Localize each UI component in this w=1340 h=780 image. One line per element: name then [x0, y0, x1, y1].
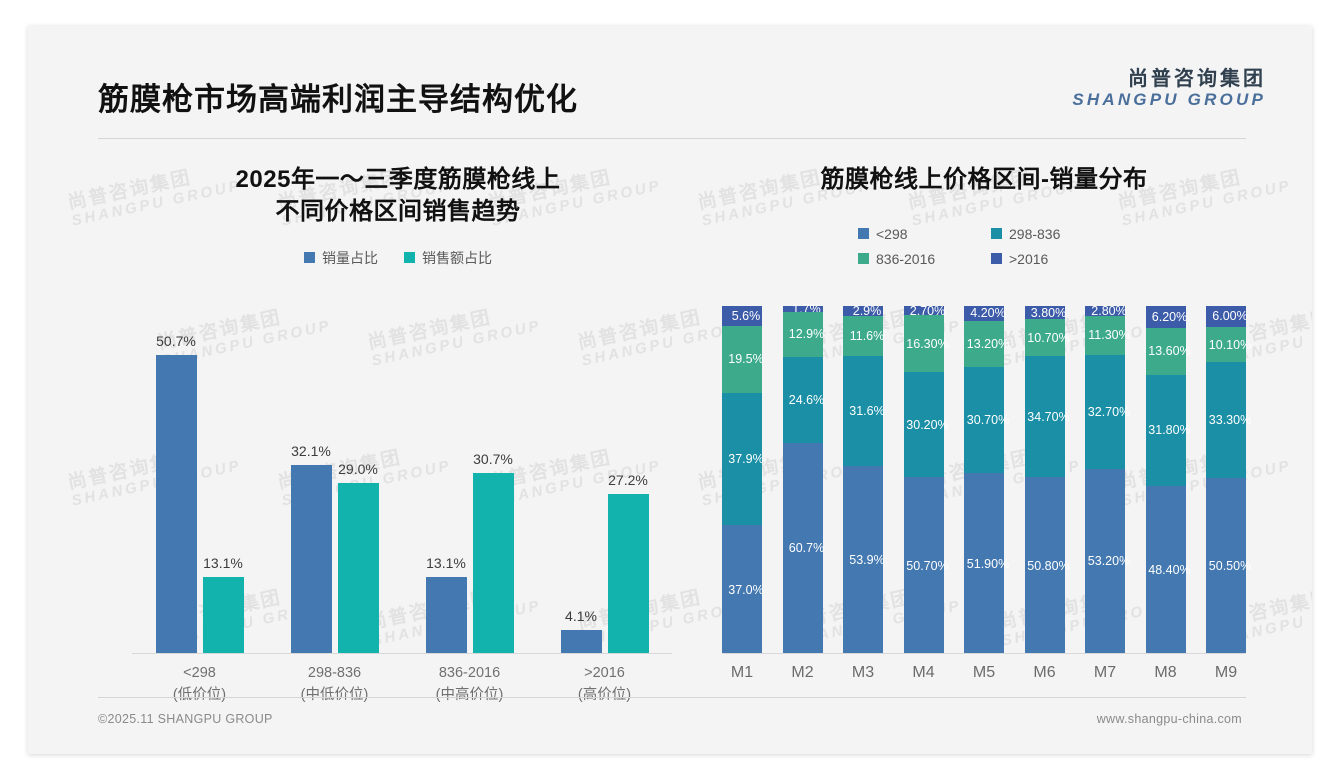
- bar-value-label: 30.7%: [473, 451, 513, 467]
- legend-item-label: 836-2016: [876, 251, 935, 267]
- month-label: M4: [904, 664, 944, 682]
- stacked-bar-column[interactable]: 4.20%13.20%30.70%51.90%: [964, 306, 1004, 654]
- stacked-bar-column[interactable]: 1.7%12.9%24.6%60.7%: [783, 306, 823, 654]
- bar[interactable]: [156, 355, 197, 654]
- bar-column[interactable]: 13.1%: [203, 324, 244, 654]
- legend-item-4[interactable]: >2016: [991, 251, 1110, 267]
- stack-segment[interactable]: 13.60%: [1146, 328, 1186, 375]
- stacked-bar-column[interactable]: 2.80%11.30%32.70%53.20%: [1085, 306, 1125, 654]
- left-chart-axis-line: [132, 653, 672, 654]
- category-tier: (中高价位): [410, 684, 530, 706]
- stack-segment[interactable]: 10.10%: [1206, 327, 1246, 362]
- bar-column[interactable]: 27.2%: [608, 324, 649, 654]
- page-title: 筋膜枪市场高端利润主导结构优化: [98, 74, 578, 119]
- stack-segment[interactable]: 6.00%: [1206, 306, 1246, 327]
- month-label: M8: [1146, 664, 1186, 682]
- stack-segment-label: 33.30%: [1209, 413, 1251, 427]
- bar-column[interactable]: 32.1%: [291, 324, 332, 654]
- stack-segment-label: 53.20%: [1088, 554, 1130, 568]
- stack-segment-label: 32.70%: [1088, 405, 1130, 419]
- left-chart-title-line1: 2025年一～三季度筋膜枪线上: [236, 166, 561, 193]
- month-label: M5: [964, 664, 1004, 682]
- category-tier: (低价位): [140, 684, 260, 706]
- bar-column[interactable]: 4.1%: [561, 324, 602, 654]
- stack-segment-label: 31.80%: [1148, 423, 1190, 437]
- left-chart-title: 2025年一～三季度筋膜枪线上 不同价格区间销售趋势: [98, 146, 698, 228]
- bar-value-label: 50.7%: [156, 333, 196, 349]
- stacked-bar-column[interactable]: 2.9%11.6%31.6%53.9%: [843, 306, 883, 654]
- stack-segment-label: 31.6%: [849, 404, 884, 418]
- bar[interactable]: [426, 577, 467, 654]
- stack-segment-label: 10.10%: [1209, 338, 1251, 352]
- stack-segment-label: 60.7%: [789, 541, 824, 555]
- logo-english-name: SHANGPU GROUP: [1072, 90, 1266, 109]
- stack-segment[interactable]: 2.80%: [1085, 306, 1125, 316]
- footer-divider: [98, 697, 1246, 698]
- month-label: M2: [783, 664, 823, 682]
- month-label: M1: [722, 664, 762, 682]
- legend-item-2[interactable]: 销售额占比: [404, 248, 492, 268]
- stack-segment[interactable]: 30.20%: [904, 372, 944, 477]
- stack-segment-label: 10.70%: [1027, 331, 1069, 345]
- stack-segment[interactable]: 11.6%: [843, 316, 883, 356]
- stack-segment[interactable]: 50.50%: [1206, 478, 1246, 654]
- stack-segment-label: 5.6%: [732, 309, 761, 323]
- stack-segment[interactable]: 53.9%: [843, 466, 883, 654]
- legend-swatch-icon: [858, 228, 869, 239]
- stack-segment-label: 30.70%: [967, 413, 1009, 427]
- stack-segment-label: 11.30%: [1088, 328, 1129, 342]
- bar-column[interactable]: 13.1%: [426, 324, 467, 654]
- stack-segment-label: 6.20%: [1152, 310, 1187, 324]
- bar-value-label: 29.0%: [338, 461, 378, 477]
- legend-swatch-icon: [304, 252, 315, 263]
- legend-swatch-icon: [404, 252, 415, 263]
- stack-segment-label: 50.70%: [906, 559, 948, 573]
- stack-segment[interactable]: 2.9%: [843, 306, 883, 316]
- legend-item-1[interactable]: <298: [858, 226, 977, 242]
- bar-value-label: 13.1%: [426, 555, 466, 571]
- right-chart-panel: 筋膜枪线上价格区间-销量分布 <298298-836836-2016>2016 …: [704, 146, 1264, 706]
- legend-swatch-icon: [858, 253, 869, 264]
- right-chart-title: 筋膜枪线上价格区间-销量分布: [704, 146, 1264, 196]
- month-label: M3: [843, 664, 883, 682]
- stacked-bar-column[interactable]: 2.70%16.30%30.20%50.70%: [904, 306, 944, 654]
- stack-segment-label: 48.40%: [1148, 563, 1190, 577]
- legend-item-1[interactable]: 销量占比: [304, 248, 378, 268]
- left-chart-category-labels: <298(低价位)298-836(中低价位)836-2016(中高价位)>201…: [132, 662, 672, 707]
- stack-segment-label: 50.50%: [1209, 559, 1251, 573]
- stacked-bar-column[interactable]: 5.6%19.5%37.9%37.0%: [722, 306, 762, 654]
- slide-header: 筋膜枪市场高端利润主导结构优化 尚普咨询集团 SHANGPU GROUP: [28, 26, 1312, 118]
- footer-website: www.shangpu-china.com: [1097, 712, 1242, 726]
- right-chart-legend: <298298-836836-2016>2016: [858, 226, 1110, 267]
- stack-segment-label: 34.70%: [1027, 410, 1069, 424]
- stack-segment[interactable]: 3.80%: [1025, 306, 1065, 319]
- legend-item-label: <298: [876, 226, 908, 242]
- category-label: 836-2016(中高价位): [410, 662, 530, 707]
- bar-value-label: 4.1%: [565, 608, 597, 624]
- stack-segment[interactable]: 33.30%: [1206, 362, 1246, 478]
- stack-segment[interactable]: 50.70%: [904, 477, 944, 654]
- bar-column[interactable]: 50.7%: [156, 324, 197, 654]
- stack-segment-label: 37.9%: [728, 452, 763, 466]
- right-chart-month-labels: M1M2M3M4M5M6M7M8M9: [722, 664, 1246, 682]
- stack-segment[interactable]: 6.20%: [1146, 306, 1186, 328]
- category-tier: (高价位): [545, 684, 665, 706]
- stack-segment[interactable]: 30.70%: [964, 367, 1004, 474]
- category-range: >2016: [584, 665, 625, 681]
- bar-group: 4.1%27.2%: [545, 324, 665, 654]
- stack-segment[interactable]: 31.6%: [843, 356, 883, 466]
- stack-segment[interactable]: 11.30%: [1085, 316, 1125, 355]
- legend-swatch-icon: [991, 253, 1002, 264]
- left-chart-plot: 50.7%13.1%32.1%29.0%13.1%30.7%4.1%27.2%: [132, 324, 672, 654]
- stack-segment[interactable]: 37.0%: [722, 525, 762, 654]
- stack-segment-label: 11.6%: [850, 329, 885, 343]
- stack-segment[interactable]: 5.6%: [722, 306, 762, 325]
- category-range: <298: [183, 665, 216, 681]
- left-chart-legend: 销量占比销售额占比: [98, 248, 698, 268]
- stack-segment-label: 13.20%: [967, 337, 1009, 351]
- bar-value-label: 27.2%: [608, 472, 648, 488]
- stack-segment[interactable]: 4.20%: [964, 306, 1004, 321]
- stacked-bar-column[interactable]: 6.00%10.10%33.30%50.50%: [1206, 306, 1246, 654]
- bar-value-label: 32.1%: [291, 443, 331, 459]
- stack-segment[interactable]: 34.70%: [1025, 356, 1065, 477]
- stack-segment[interactable]: 37.9%: [722, 393, 762, 525]
- bar-column[interactable]: 30.7%: [473, 324, 514, 654]
- bar-column[interactable]: 29.0%: [338, 324, 379, 654]
- stack-segment[interactable]: 13.20%: [964, 321, 1004, 367]
- stack-segment[interactable]: 16.30%: [904, 315, 944, 372]
- legend-item-label: 298-836: [1009, 226, 1060, 242]
- right-chart-plot: 5.6%19.5%37.9%37.0%1.7%12.9%24.6%60.7%2.…: [722, 306, 1246, 654]
- left-chart-title-line2: 不同价格区间销售趋势: [98, 196, 698, 228]
- stack-segment-label: 30.20%: [906, 418, 948, 432]
- stack-segment-label: 51.90%: [967, 557, 1009, 571]
- bar[interactable]: [203, 577, 244, 654]
- charts-region: 2025年一～三季度筋膜枪线上 不同价格区间销售趋势 销量占比销售额占比 50.…: [28, 146, 1312, 706]
- right-chart-axis-line: [722, 653, 1246, 654]
- stack-segment-label: 50.80%: [1027, 559, 1069, 573]
- stacked-bar-column[interactable]: 6.20%13.60%31.80%48.40%: [1146, 306, 1186, 654]
- category-tier: (中低价位): [275, 684, 395, 706]
- month-label: M6: [1025, 664, 1065, 682]
- stack-segment-label: 37.0%: [728, 583, 763, 597]
- stack-segment[interactable]: 48.40%: [1146, 486, 1186, 654]
- stack-segment[interactable]: 24.6%: [783, 357, 823, 443]
- stacked-bar-column[interactable]: 3.80%10.70%34.70%50.80%: [1025, 306, 1065, 654]
- category-label: >2016(高价位): [545, 662, 665, 707]
- bar[interactable]: [291, 465, 332, 654]
- bar-group: 13.1%30.7%: [410, 324, 530, 654]
- bar-value-label: 13.1%: [203, 555, 243, 571]
- stack-segment-label: 13.60%: [1148, 344, 1190, 358]
- logo-chinese-name: 尚普咨询集团: [1072, 68, 1266, 90]
- legend-item-3[interactable]: 836-2016: [858, 251, 977, 267]
- month-label: M7: [1085, 664, 1125, 682]
- stack-segment[interactable]: 50.80%: [1025, 477, 1065, 654]
- bar[interactable]: [561, 630, 602, 654]
- stack-segment[interactable]: 53.20%: [1085, 469, 1125, 654]
- stack-segment[interactable]: 31.80%: [1146, 375, 1186, 486]
- category-range: 298-836: [308, 665, 361, 681]
- slide-canvas: 尚普咨询集团SHANGPU GROUP尚普咨询集团SHANGPU GROUP尚普…: [28, 26, 1312, 754]
- stack-segment[interactable]: 51.90%: [964, 473, 1004, 654]
- brand-logo: 尚普咨询集团 SHANGPU GROUP: [1072, 68, 1266, 109]
- bar[interactable]: [608, 494, 649, 654]
- month-label: M9: [1206, 664, 1246, 682]
- bar[interactable]: [473, 473, 514, 654]
- legend-swatch-icon: [991, 228, 1002, 239]
- stack-segment-label: 4.20%: [970, 306, 1005, 320]
- category-range: 836-2016: [439, 665, 500, 681]
- left-chart-panel: 2025年一～三季度筋膜枪线上 不同价格区间销售趋势 销量占比销售额占比 50.…: [98, 146, 698, 706]
- bar[interactable]: [338, 483, 379, 654]
- category-label: <298(低价位): [140, 662, 260, 707]
- stack-segment[interactable]: 12.9%: [783, 312, 823, 357]
- legend-item-label: 销售额占比: [422, 248, 492, 268]
- footer-copyright: ©2025.11 SHANGPU GROUP: [98, 712, 273, 726]
- stack-segment[interactable]: 2.70%: [904, 306, 944, 315]
- bar-group: 32.1%29.0%: [275, 324, 395, 654]
- legend-item-label: >2016: [1009, 251, 1048, 267]
- stack-segment-label: 16.30%: [906, 337, 948, 351]
- legend-item-label: 销量占比: [322, 248, 378, 268]
- stack-segment[interactable]: 60.7%: [783, 443, 823, 654]
- stack-segment[interactable]: 10.70%: [1025, 319, 1065, 356]
- stack-segment-label: 12.9%: [789, 327, 824, 341]
- stack-segment-label: 19.5%: [728, 352, 763, 366]
- stack-segment-label: 53.9%: [849, 553, 884, 567]
- stack-segment[interactable]: 19.5%: [722, 326, 762, 394]
- legend-item-2[interactable]: 298-836: [991, 226, 1110, 242]
- stack-segment-label: 24.6%: [789, 393, 824, 407]
- stack-segment-label: 6.00%: [1212, 309, 1247, 323]
- stack-segment[interactable]: 32.70%: [1085, 355, 1125, 469]
- header-divider: [98, 138, 1246, 139]
- stack-segment-label: 3.80%: [1031, 306, 1066, 320]
- bar-group: 50.7%13.1%: [140, 324, 260, 654]
- category-label: 298-836(中低价位): [275, 662, 395, 707]
